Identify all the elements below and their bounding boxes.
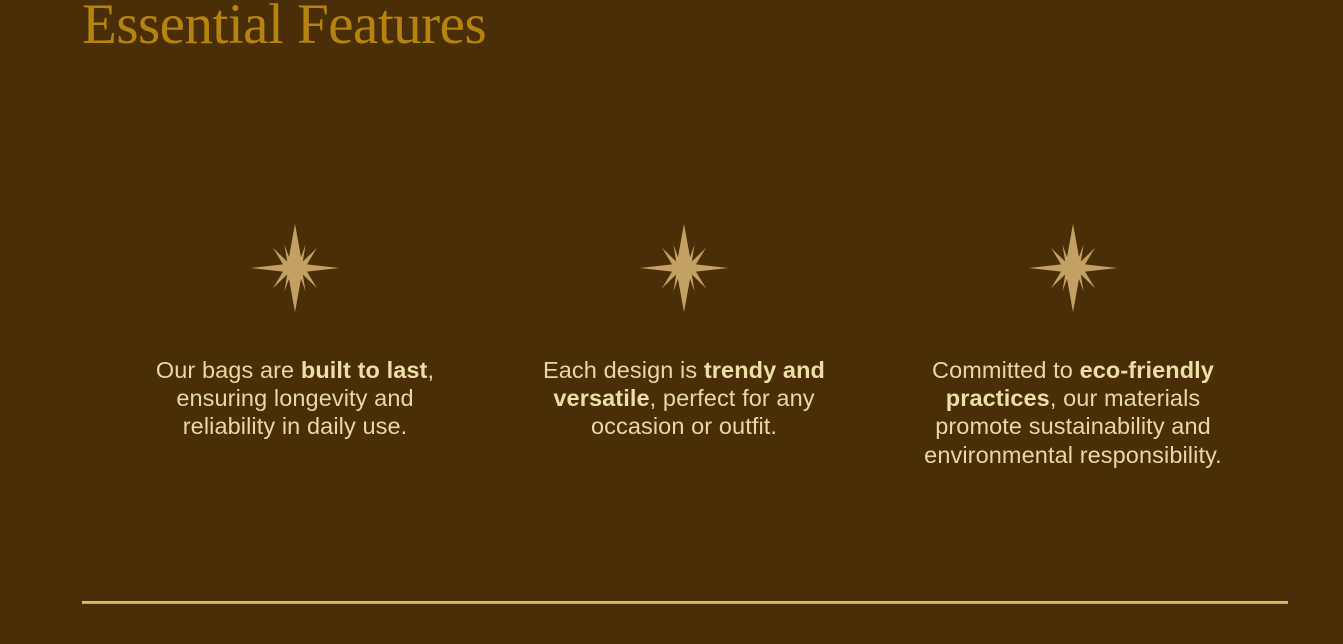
feature-text-before: Committed to [932, 357, 1080, 383]
feature-description: Our bags are built to last, ensuring lon… [140, 356, 450, 441]
feature-text-before: Our bags are [156, 357, 301, 383]
feature-card-sustainability: Committed to eco-friendly practices, our… [918, 222, 1228, 469]
feature-description: Committed to eco-friendly practices, our… [918, 356, 1228, 469]
feature-description: Each design is trendy and versatile, per… [529, 356, 839, 441]
eight-pointed-star-icon [1027, 222, 1119, 314]
feature-card-versatility: Each design is trendy and versatile, per… [529, 222, 839, 469]
features-row: Our bags are built to last, ensuring lon… [0, 222, 1343, 469]
feature-text-highlight: built to last [301, 357, 428, 383]
eight-pointed-star-icon [638, 222, 730, 314]
page-title: Essential Features [82, 0, 486, 57]
feature-card-durability: Our bags are built to last, ensuring lon… [140, 222, 450, 469]
section-divider [82, 601, 1288, 604]
eight-pointed-star-icon [249, 222, 341, 314]
feature-text-before: Each design is [543, 357, 704, 383]
